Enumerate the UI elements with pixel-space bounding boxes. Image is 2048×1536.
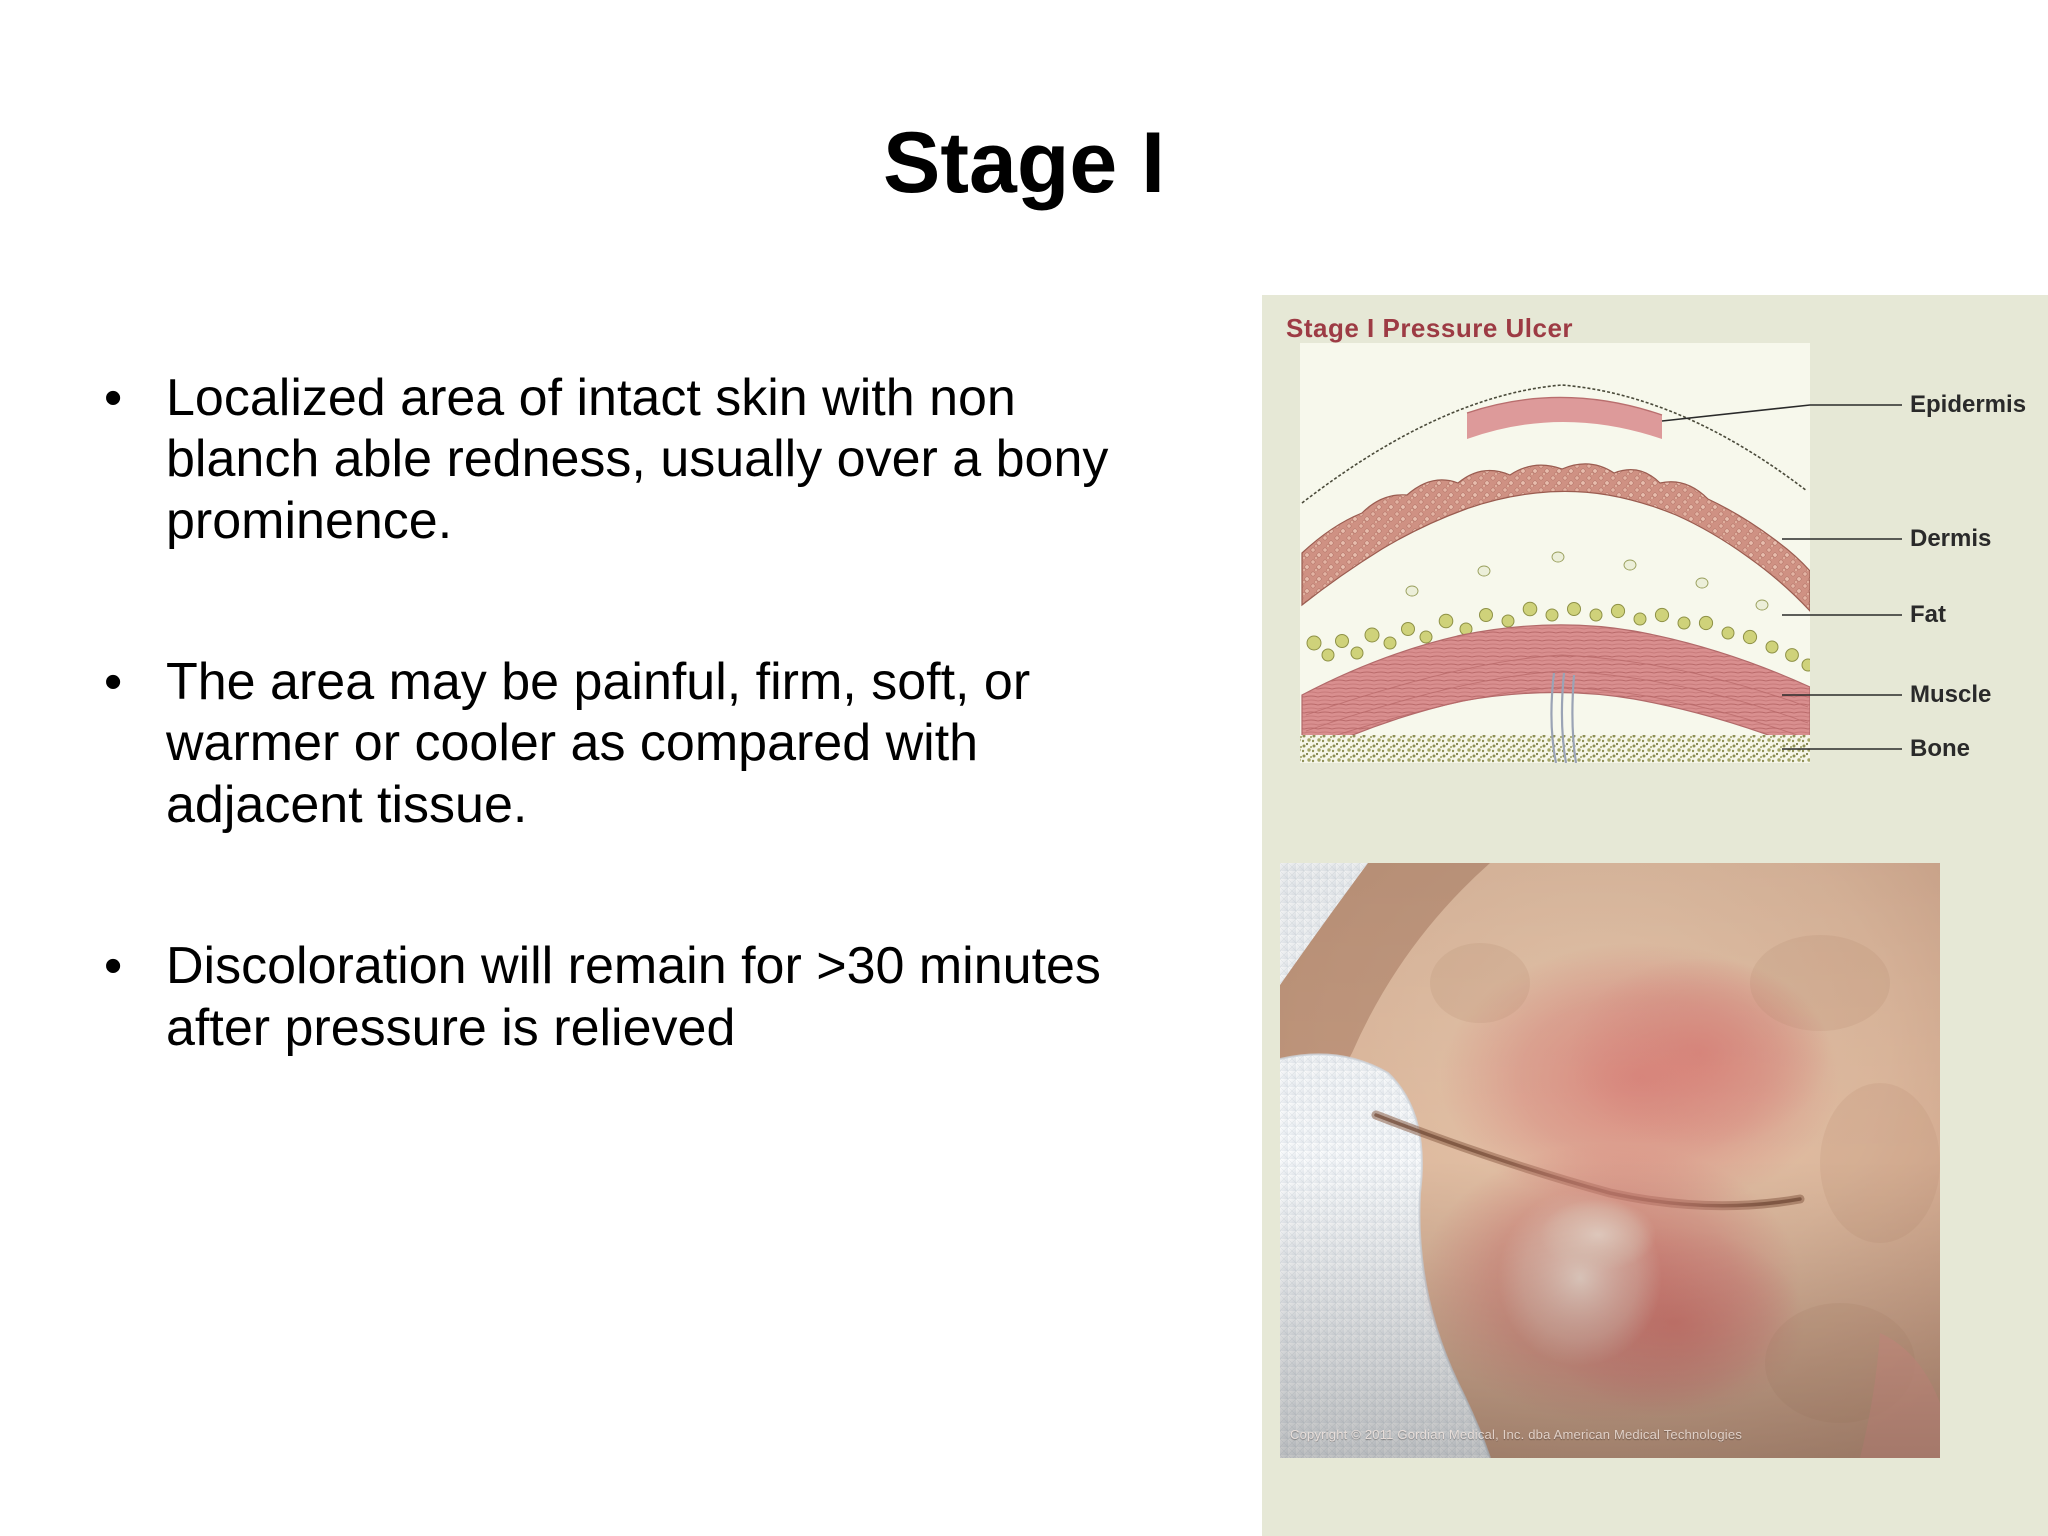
page-title: Stage I xyxy=(0,118,2048,208)
list-item: • Localized area of intact skin with non… xyxy=(100,368,1240,552)
clinical-photo-image xyxy=(1280,863,1940,1458)
bullet-text: Localized area of intact skin with non b… xyxy=(166,368,1176,552)
diagram-label-muscle: Muscle xyxy=(1910,681,1991,708)
diagram-illustration-icon: Epidermis Dermis Fat Muscle Bone xyxy=(1262,343,2048,783)
list-item: • Discoloration will remain for >30 minu… xyxy=(100,936,1240,1059)
bullet-list: • Localized area of intact skin with non… xyxy=(100,368,1240,1159)
diagram-label-fat: Fat xyxy=(1910,601,1946,628)
photo-credit: Copyright © 2011 Gordian Medical, Inc. d… xyxy=(1290,1427,1930,1442)
diagram-label-bone: Bone xyxy=(1910,735,1970,762)
media-panel: Stage I Pressure Ulcer xyxy=(1262,295,2048,1536)
diagram-title: Stage I Pressure Ulcer xyxy=(1286,313,1573,344)
diagram-label-dermis: Dermis xyxy=(1910,525,1991,552)
bullet-marker-icon: • xyxy=(100,652,166,713)
bullet-marker-icon: • xyxy=(100,368,166,429)
skin-cross-section-diagram: Stage I Pressure Ulcer xyxy=(1262,295,2048,785)
diagram-label-epidermis: Epidermis xyxy=(1910,391,2026,418)
clinical-photo: Copyright © 2011 Gordian Medical, Inc. d… xyxy=(1280,863,1940,1458)
bullet-marker-icon: • xyxy=(100,936,166,997)
bullet-text: The area may be painful, firm, soft, or … xyxy=(166,652,1176,836)
list-item: • The area may be painful, firm, soft, o… xyxy=(100,652,1240,836)
bullet-text: Discoloration will remain for >30 minute… xyxy=(166,936,1176,1059)
slide: Stage I • Localized area of intact skin … xyxy=(0,0,2048,1536)
